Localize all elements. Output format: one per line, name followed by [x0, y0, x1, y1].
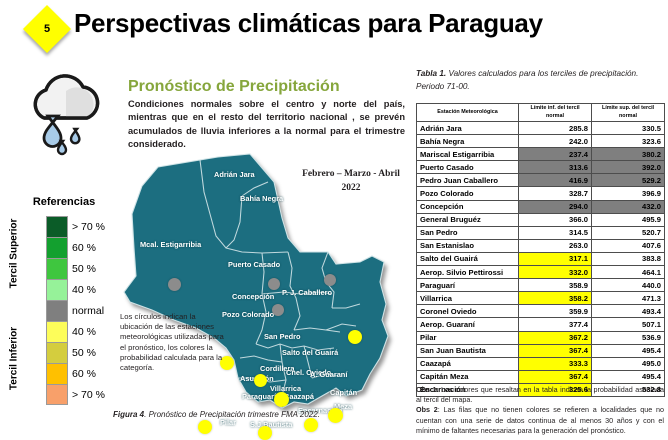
observation-2: Obs 2: Las filas que no tienen colores s…: [416, 405, 664, 436]
cell-lower-limit: 359.9: [519, 305, 592, 318]
cell-lower-limit: 333.3: [519, 357, 592, 370]
table-row: San Juan Bautista367.4495.4: [417, 344, 665, 357]
page-title: Perspectivas climáticas para Paraguay: [74, 8, 543, 39]
table-row: Bahía Negra242.0323.6: [417, 135, 665, 148]
cell-lower-limit: 237.4: [519, 148, 592, 161]
table-row: Mariscal Estigarribia237.4380.2: [417, 148, 665, 161]
legend-swatch-5: [46, 321, 68, 342]
station-dot-mcal-estigarribia: [168, 278, 181, 291]
map-label-pilar: Pilar: [220, 418, 236, 427]
cell-lower-limit: 242.0: [519, 135, 592, 148]
table-row: San Estanislao263.0407.6: [417, 239, 665, 252]
legend-label-0: > 70 %: [72, 216, 120, 237]
table-row: Paraguarí358.9440.0: [417, 279, 665, 292]
cell-station: San Estanislao: [417, 239, 519, 252]
cell-lower-limit: 367.4: [519, 370, 592, 383]
cell-station: Puerto Casado: [417, 161, 519, 174]
cell-station: Mariscal Estigarribia: [417, 148, 519, 161]
table-row: Adrián Jara285.8330.5: [417, 122, 665, 135]
legend-group-upper-label: Tercil Superior: [9, 211, 20, 297]
cell-station: Caazapá: [417, 357, 519, 370]
cell-lower-limit: 328.7: [519, 187, 592, 200]
table-row: Aerop. Guaraní377.4507.1: [417, 318, 665, 331]
legend-swatch-3: [46, 279, 68, 300]
cell-station: Adrián Jara: [417, 122, 519, 135]
table-row: Villarrica358.2471.3: [417, 292, 665, 305]
table-caption-rest: Valores calculados para los terciles de …: [416, 69, 638, 91]
legend-label-6: 50 %: [72, 342, 120, 363]
cell-lower-limit: 317.1: [519, 252, 592, 265]
cell-station: Aerop. Silvio Pettirossi: [417, 266, 519, 279]
legend-title: Referencias: [8, 196, 120, 208]
observation-2-text: : Las filas que no tienen colores se ref…: [416, 405, 664, 434]
legend-swatch-8: [46, 384, 68, 405]
cell-lower-limit: 367.4: [519, 344, 592, 357]
legend-label-5: 40 %: [72, 321, 120, 342]
cell-lower-limit: 263.0: [519, 239, 592, 252]
station-dot-pilar: [198, 420, 212, 434]
legend-label-7: 60 %: [72, 363, 120, 384]
legend-label-8: > 70 %: [72, 384, 120, 405]
cell-upper-limit: 396.9: [592, 187, 665, 200]
cell-lower-limit: 358.2: [519, 292, 592, 305]
cell-station: Aerop. Guaraní: [417, 318, 519, 331]
cell-upper-limit: 330.5: [592, 122, 665, 135]
station-dot-caazapa: [274, 392, 289, 407]
cell-lower-limit: 416.9: [519, 174, 592, 187]
cell-upper-limit: 493.4: [592, 305, 665, 318]
station-dot-pedro-juan-caballero: [324, 274, 336, 286]
figure-caption-rest: . Pronóstico de Precipitación trimestre …: [144, 410, 320, 419]
column-header-lower-limit: Límite inf. del tercil normal: [519, 104, 592, 122]
map-note-text: Los círculos indican la ubicación de las…: [120, 312, 224, 373]
cell-lower-limit: 367.2: [519, 331, 592, 344]
station-dot-encarnacion: [304, 418, 318, 432]
table-row: Pilar367.2536.9: [417, 331, 665, 344]
station-dot-villarrica: [254, 374, 267, 387]
map-period-line1: Febrero – Marzo - Abril: [302, 169, 400, 179]
observation-1-text: : Los colores que resaltan en la tabla i…: [416, 385, 664, 404]
cell-station: Bahía Negra: [417, 135, 519, 148]
cell-upper-limit: 380.2: [592, 148, 665, 161]
slide-root: 5 Perspectivas climáticas para Paraguay …: [0, 0, 668, 440]
cell-upper-limit: 507.1: [592, 318, 665, 331]
table-row: General Bruguéz366.0495.9: [417, 213, 665, 226]
cell-upper-limit: 529.2: [592, 174, 665, 187]
map-label-s-j-bautista: S.J.Bautista: [250, 420, 292, 429]
cell-upper-limit: 471.3: [592, 292, 665, 305]
table-row: Puerto Casado313.6392.0: [417, 161, 665, 174]
legend-group-lower-label: Tercil Inferior: [9, 316, 20, 402]
legend-swatch-1: [46, 237, 68, 258]
legend-swatch-7: [46, 363, 68, 384]
cell-upper-limit: 407.6: [592, 239, 665, 252]
cell-station: San Pedro: [417, 226, 519, 239]
cell-lower-limit: 285.8: [519, 122, 592, 135]
table-row: Concepción294.0432.0: [417, 200, 665, 213]
observation-1-label: Obs 1: [416, 385, 437, 394]
cell-upper-limit: 323.6: [592, 135, 665, 148]
column-header-station: Estación Meteorológica: [417, 104, 519, 122]
column-header-upper-limit: Límite sup. del tercil normal: [592, 104, 665, 122]
cell-station: Pozo Colorado: [417, 187, 519, 200]
cell-upper-limit: 432.0: [592, 200, 665, 213]
cell-upper-limit: 464.1: [592, 266, 665, 279]
cell-station: Coronel Oviedo: [417, 305, 519, 318]
observation-1: Obs 1: Los colores que resaltan en la ta…: [416, 385, 664, 405]
table-header-row: Estación Meteorológica Límite inf. del t…: [417, 104, 665, 122]
station-dot-salto-del-guaira: [348, 330, 362, 344]
cell-station: Salto del Guairá: [417, 252, 519, 265]
cell-upper-limit: 520.7: [592, 226, 665, 239]
table-caption: Tabla 1. Valores calculados para los ter…: [416, 68, 664, 93]
station-dot-concepcion: [272, 304, 284, 316]
cell-station: Capitán Meza: [417, 370, 519, 383]
table-row: Caazapá333.3495.0: [417, 357, 665, 370]
cell-upper-limit: 440.0: [592, 279, 665, 292]
cell-upper-limit: 536.9: [592, 331, 665, 344]
forecast-heading: Pronóstico de Precipitación: [128, 78, 340, 96]
legend-swatch-0: [46, 216, 68, 237]
legend-label-2: 50 %: [72, 258, 120, 279]
table-row: Aerop. Silvio Pettirossi332.0464.1: [417, 266, 665, 279]
cell-station: Pedro Juan Caballero: [417, 174, 519, 187]
legend-label-4: normal: [72, 300, 120, 321]
cell-upper-limit: 392.0: [592, 161, 665, 174]
figure-caption: Figura 4. Pronóstico de Precipitación tr…: [113, 410, 413, 419]
cell-upper-limit: 495.4: [592, 370, 665, 383]
cell-upper-limit: 495.9: [592, 213, 665, 226]
cell-lower-limit: 313.6: [519, 161, 592, 174]
tercile-table: Estación Meteorológica Límite inf. del t…: [416, 103, 665, 397]
forecast-body-text: Condiciones normales sobre el centro y n…: [128, 98, 405, 152]
cell-station: General Bruguéz: [417, 213, 519, 226]
cell-station: Pilar: [417, 331, 519, 344]
table-row: Coronel Oviedo359.9493.4: [417, 305, 665, 318]
cell-station: San Juan Bautista: [417, 344, 519, 357]
tercile-table-body: Adrián Jara285.8330.5Bahía Negra242.0323…: [417, 122, 665, 397]
cell-lower-limit: 377.4: [519, 318, 592, 331]
cell-upper-limit: 383.8: [592, 252, 665, 265]
legend-label-1: 60 %: [72, 237, 120, 258]
cell-station: Concepción: [417, 200, 519, 213]
cell-upper-limit: 495.0: [592, 357, 665, 370]
legend-swatch-4: [46, 300, 68, 321]
map-period-line2: 2022: [342, 183, 361, 193]
station-dot-san-juan-bautista: [258, 426, 272, 440]
legend-swatch-2: [46, 258, 68, 279]
observation-2-label: Obs 2: [416, 405, 438, 414]
legend-label-3: 40 %: [72, 279, 120, 300]
table-row: Salto del Guairá317.1383.8: [417, 252, 665, 265]
cell-lower-limit: 366.0: [519, 213, 592, 226]
table-row: Capitán Meza367.4495.4: [417, 370, 665, 383]
legend-swatches: [46, 216, 68, 405]
observations-block: Obs 1: Los colores que resaltan en la ta…: [416, 385, 664, 436]
station-dot-puerto-casado: [268, 278, 280, 290]
legend-swatch-6: [46, 342, 68, 363]
table-row: Pozo Colorado328.7396.9: [417, 187, 665, 200]
cell-lower-limit: 332.0: [519, 266, 592, 279]
cell-upper-limit: 495.4: [592, 344, 665, 357]
tercile-table-wrap: Estación Meteorológica Límite inf. del t…: [416, 103, 664, 397]
table-row: San Pedro314.5520.7: [417, 226, 665, 239]
slide-header: 5 Perspectivas climáticas para Paraguay: [0, 0, 668, 52]
slide-number-label: 5: [30, 12, 64, 46]
cell-lower-limit: 294.0: [519, 200, 592, 213]
cell-lower-limit: 314.5: [519, 226, 592, 239]
table-row: Pedro Juan Caballero416.9529.2: [417, 174, 665, 187]
rain-cloud-icon: [14, 66, 114, 171]
figure-caption-bold: Figura 4: [113, 410, 144, 419]
cell-lower-limit: 358.9: [519, 279, 592, 292]
cell-station: Paraguarí: [417, 279, 519, 292]
map-period-label: Febrero – Marzo - Abril 2022: [293, 168, 409, 196]
table-caption-bold: Tabla 1.: [416, 69, 446, 78]
cell-station: Villarrica: [417, 292, 519, 305]
